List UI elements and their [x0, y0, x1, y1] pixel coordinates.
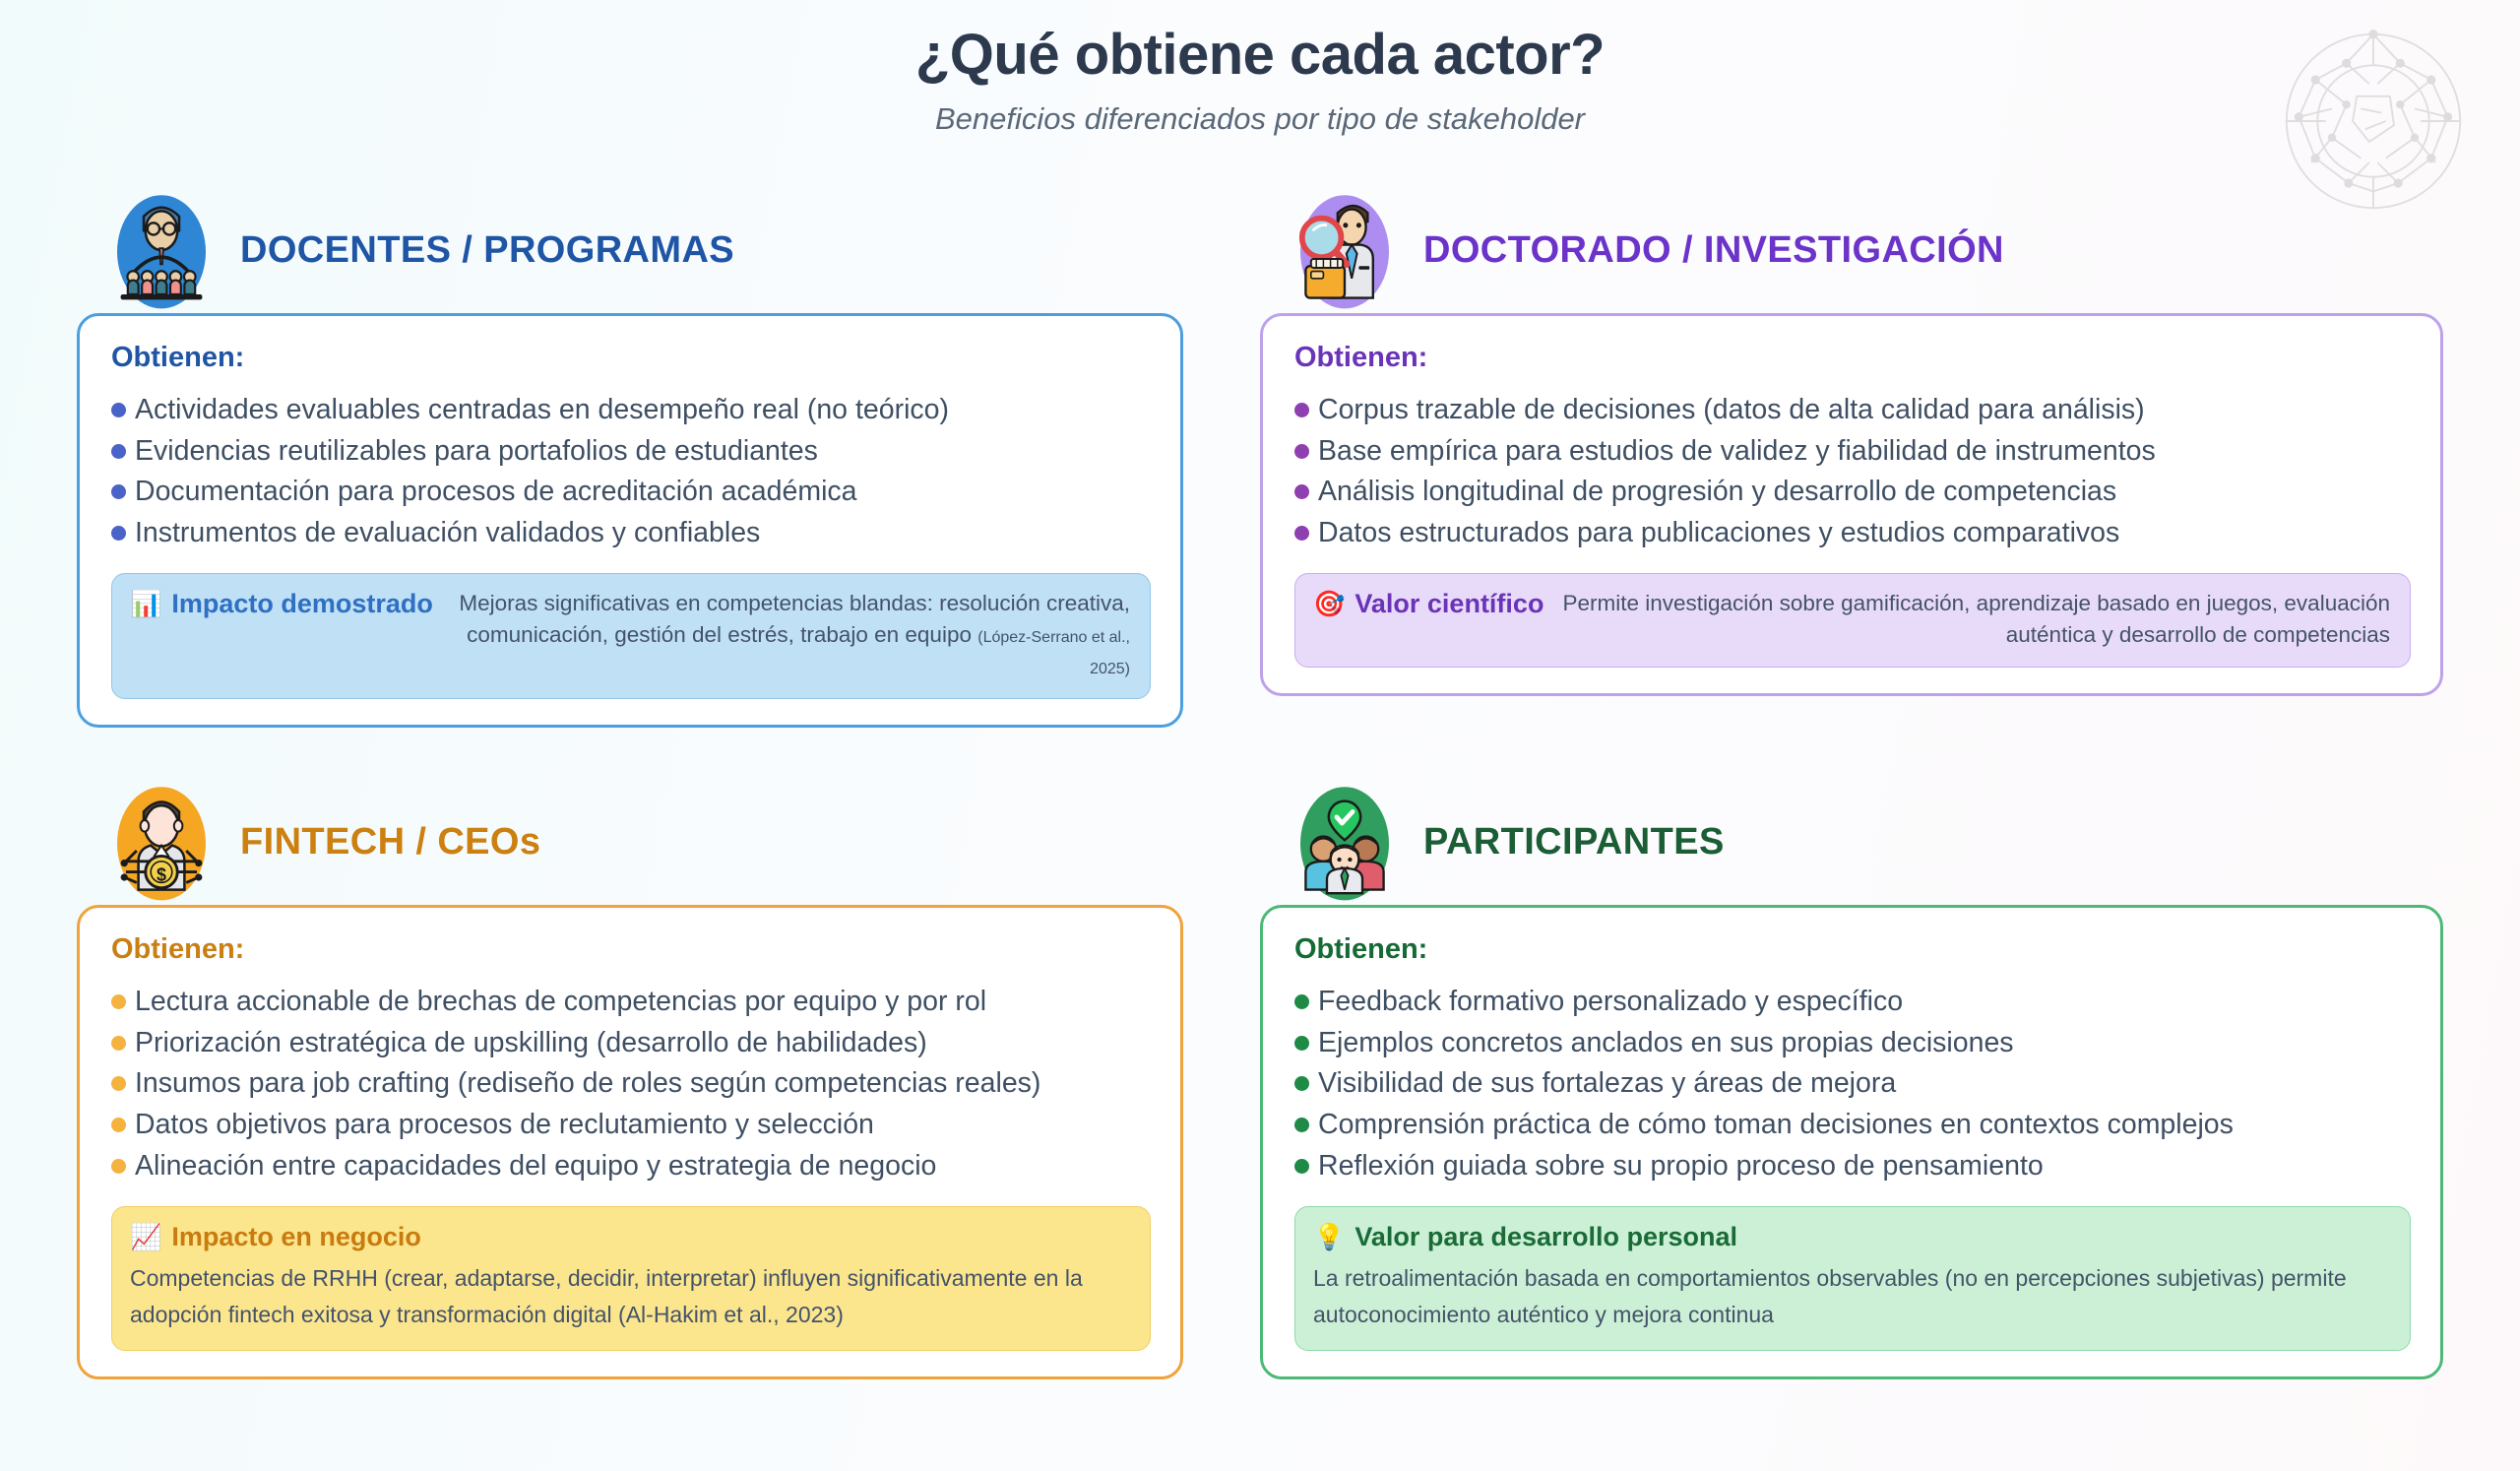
bullet-dot-icon	[1294, 1036, 1309, 1051]
highlight-label: Impacto en negocio	[171, 1221, 421, 1254]
benefit-text: Corpus trazable de decisiones (datos de …	[1318, 390, 2145, 431]
list-item: Datos objetivos para procesos de recluta…	[111, 1105, 1151, 1146]
section-header-fintech: $ FINTECH / CEOs	[77, 779, 1183, 905]
benefit-list-docentes: Actividades evaluables centradas en dese…	[111, 390, 1151, 553]
benefit-text: Actividades evaluables centradas en dese…	[135, 390, 949, 431]
list-item: Priorización estratégica de upskilling (…	[111, 1023, 1151, 1064]
highlight-label: Valor científico	[1354, 588, 1543, 621]
executive-money-icon: $	[108, 780, 215, 904]
benefit-text: Datos objetivos para procesos de recluta…	[135, 1105, 874, 1146]
card-doctorado: Obtienen: Corpus trazable de decisiones …	[1260, 313, 2443, 696]
benefit-text: Evidencias reutilizables para portafolio…	[135, 431, 818, 473]
bullet-dot-icon	[1294, 994, 1309, 1009]
card-fintech: Obtienen: Lectura accionable de brechas …	[77, 905, 1183, 1378]
list-item: Comprensión práctica de cómo toman decis…	[1294, 1105, 2411, 1146]
list-item: Reflexión guiada sobre su propio proceso…	[1294, 1146, 2411, 1187]
highlight-heading: 💡 Valor para desarrollo personal	[1313, 1221, 2390, 1260]
participants-group-icon	[1291, 780, 1398, 904]
benefit-text: Alineación entre capacidades del equipo …	[135, 1146, 936, 1187]
benefit-text: Visibilidad de sus fortalezas y áreas de…	[1318, 1063, 1896, 1105]
bullet-dot-icon	[111, 1118, 126, 1132]
bar-chart-icon: 📊	[130, 588, 161, 620]
list-item: Actividades evaluables centradas en dese…	[111, 390, 1151, 431]
obtienen-label-docentes: Obtienen:	[111, 342, 1151, 374]
list-item: Corpus trazable de decisiones (datos de …	[1294, 390, 2411, 431]
bullet-dot-icon	[1294, 484, 1309, 499]
highlight-text: La retroalimentación basada en comportam…	[1313, 1260, 2390, 1334]
obtienen-label-fintech: Obtienen:	[111, 933, 1151, 966]
bullet-dot-icon	[111, 1036, 126, 1051]
benefit-text: Priorización estratégica de upskilling (…	[135, 1023, 927, 1064]
quadrant-doctorado: DOCTORADO / INVESTIGACIÓN Obtienen: Corp…	[1260, 187, 2520, 728]
page-subtitle: Beneficios diferenciados por tipo de sta…	[0, 101, 2520, 137]
bullet-dot-icon	[1294, 1076, 1309, 1091]
highlight-label: Impacto demostrado	[171, 588, 433, 621]
list-item: Ejemplos concretos anclados en sus propi…	[1294, 1023, 2411, 1064]
list-item: Base empírica para estudios de validez y…	[1294, 431, 2411, 473]
highlight-box-participantes: 💡 Valor para desarrollo personal La retr…	[1294, 1206, 2411, 1350]
list-item: Datos estructurados para publicaciones y…	[1294, 513, 2411, 554]
benefit-text: Comprensión práctica de cómo toman decis…	[1318, 1105, 2234, 1146]
benefit-text: Insumos para job crafting (rediseño de r…	[135, 1063, 1040, 1105]
bullet-dot-icon	[111, 1159, 126, 1174]
benefit-list-fintech: Lectura accionable de brechas de compete…	[111, 982, 1151, 1186]
section-header-docentes: DOCENTES / PROGRAMAS	[77, 187, 1183, 313]
section-title-docentes: DOCENTES / PROGRAMAS	[240, 229, 734, 272]
section-title-doctorado: DOCTORADO / INVESTIGACIÓN	[1423, 229, 2004, 272]
benefit-text: Documentación para procesos de acreditac…	[135, 472, 857, 513]
benefit-text: Reflexión guiada sobre su propio proceso…	[1318, 1146, 2044, 1187]
bullet-dot-icon	[111, 484, 126, 499]
list-item: Alineación entre capacidades del equipo …	[111, 1146, 1151, 1187]
section-title-fintech: FINTECH / CEOs	[240, 821, 540, 863]
benefit-text: Análisis longitudinal de progresión y de…	[1318, 472, 2116, 513]
list-item: Instrumentos de evaluación validados y c…	[111, 513, 1151, 554]
chart-increasing-icon: 📈	[130, 1221, 161, 1253]
bullet-dot-icon	[1294, 1118, 1309, 1132]
bullet-dot-icon	[111, 403, 126, 417]
bullet-dot-icon	[1294, 526, 1309, 541]
list-item: Insumos para job crafting (rediseño de r…	[111, 1063, 1151, 1105]
page-header: ¿Qué obtiene cada actor? Beneficios dife…	[0, 0, 2520, 137]
bullet-dot-icon	[111, 1076, 126, 1091]
bullet-dot-icon	[1294, 403, 1309, 417]
benefit-text: Datos estructurados para publicaciones y…	[1318, 513, 2119, 554]
section-header-participantes: PARTICIPANTES	[1260, 779, 2443, 905]
card-docentes: Obtienen: Actividades evaluables centrad…	[77, 313, 1183, 728]
benefit-list-participantes: Feedback formativo personalizado y espec…	[1294, 982, 2411, 1186]
quadrant-participantes: PARTICIPANTES Obtienen: Feedback formati…	[1260, 779, 2520, 1378]
section-title-participantes: PARTICIPANTES	[1423, 821, 1725, 863]
bullet-dot-icon	[1294, 1159, 1309, 1174]
benefit-text: Lectura accionable de brechas de compete…	[135, 982, 986, 1023]
bullet-dot-icon	[111, 526, 126, 541]
stakeholder-grid: DOCENTES / PROGRAMAS Obtienen: Actividad…	[0, 187, 2520, 1379]
quadrant-fintech: $ FINTECH / CEOs Obtienen: Lectura accio…	[0, 779, 1260, 1378]
highlight-heading: 📈 Impacto en negocio	[130, 1221, 1130, 1260]
page-title: ¿Qué obtiene cada actor?	[0, 22, 2520, 88]
benefit-text: Instrumentos de evaluación validados y c…	[135, 513, 760, 554]
obtienen-label-participantes: Obtienen:	[1294, 933, 2411, 966]
list-item: Lectura accionable de brechas de compete…	[111, 982, 1151, 1023]
bullet-dot-icon	[111, 444, 126, 459]
highlight-text: Mejoras significativas en competencias b…	[443, 588, 1130, 682]
list-item: Evidencias reutilizables para portafolio…	[111, 431, 1151, 473]
benefit-text: Ejemplos concretos anclados en sus propi…	[1318, 1023, 2014, 1064]
bullet-dot-icon	[1294, 444, 1309, 459]
citation: (López-Serrano et al., 2025)	[977, 629, 1130, 677]
list-item: Documentación para procesos de acreditac…	[111, 472, 1151, 513]
highlight-label: Valor para desarrollo personal	[1354, 1221, 1737, 1254]
list-item: Visibilidad de sus fortalezas y áreas de…	[1294, 1063, 2411, 1105]
highlight-box-doctorado: 🎯 Valor científico Permite investigación…	[1294, 573, 2411, 668]
benefit-text: Base empírica para estudios de validez y…	[1318, 431, 2156, 473]
obtienen-label-doctorado: Obtienen:	[1294, 342, 2411, 374]
highlight-text: Competencias de RRHH (crear, adaptarse, …	[130, 1260, 1130, 1334]
bullet-dot-icon	[111, 994, 126, 1009]
list-item: Feedback formativo personalizado y espec…	[1294, 982, 2411, 1023]
lightbulb-icon: 💡	[1313, 1221, 1345, 1253]
card-participantes: Obtienen: Feedback formativo personaliza…	[1260, 905, 2443, 1378]
quadrant-docentes: DOCENTES / PROGRAMAS Obtienen: Actividad…	[0, 187, 1260, 728]
highlight-box-fintech: 📈 Impacto en negocio Competencias de RRH…	[111, 1206, 1151, 1350]
benefit-list-doctorado: Corpus trazable de decisiones (datos de …	[1294, 390, 2411, 553]
researcher-magnifier-icon	[1291, 188, 1398, 312]
section-header-doctorado: DOCTORADO / INVESTIGACIÓN	[1260, 187, 2443, 313]
list-item: Análisis longitudinal de progresión y de…	[1294, 472, 2411, 513]
highlight-box-docentes: 📊 Impacto demostrado Mejoras significati…	[111, 573, 1151, 699]
highlight-text: Permite investigación sobre gamificación…	[1553, 588, 2390, 651]
svg-text:$: $	[157, 865, 166, 885]
target-dart-icon: 🎯	[1313, 588, 1345, 620]
teacher-classroom-icon	[108, 188, 215, 312]
benefit-text: Feedback formativo personalizado y espec…	[1318, 982, 1903, 1023]
